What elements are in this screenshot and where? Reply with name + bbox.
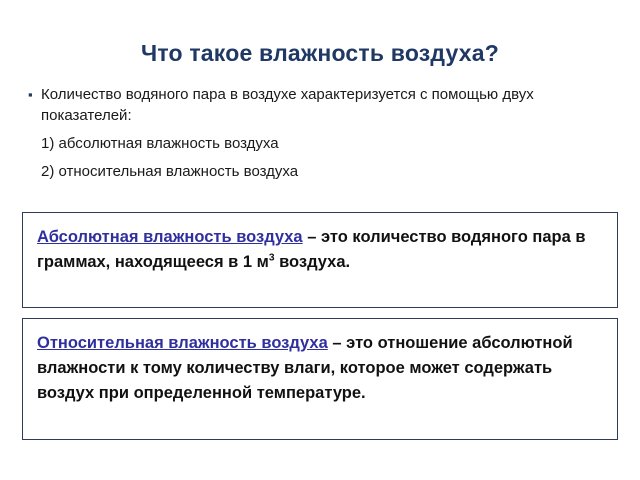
term-absolute-humidity: Абсолютная влажность воздуха (37, 228, 303, 246)
numbered-item-2: 2) относительная влажность воздуха (41, 161, 612, 182)
slide: Что такое влажность воздуха? ▪ Количеств… (0, 0, 640, 480)
numbered-item-1: 1) абсолютная влажность воздуха (41, 133, 612, 154)
definition-text: Абсолютная влажность воздуха – это колич… (37, 225, 603, 275)
list-item: ▪ Количество водяного пара в воздухе хар… (28, 84, 612, 126)
term-relative-humidity: Относительная влажность воздуха (37, 334, 328, 352)
definition-text: Относительная влажность воздуха – это от… (37, 331, 603, 406)
page-title: Что такое влажность воздуха? (0, 40, 640, 67)
bullet-list: ▪ Количество водяного пара в воздухе хар… (28, 84, 612, 189)
dash-separator: – (332, 334, 341, 352)
list-item: 2) относительная влажность воздуха (28, 161, 612, 182)
definition-box-absolute: Абсолютная влажность воздуха – это колич… (22, 212, 618, 308)
dash-separator: – (307, 228, 316, 246)
definition-box-relative: Относительная влажность воздуха – это от… (22, 318, 618, 440)
definition-body-tail: воздуха. (275, 253, 351, 271)
bullet-text: Количество водяного пара в воздухе харак… (41, 84, 612, 126)
bullet-marker-icon: ▪ (28, 84, 41, 105)
list-item: 1) абсолютная влажность воздуха (28, 133, 612, 154)
bottom-margin (0, 466, 640, 480)
